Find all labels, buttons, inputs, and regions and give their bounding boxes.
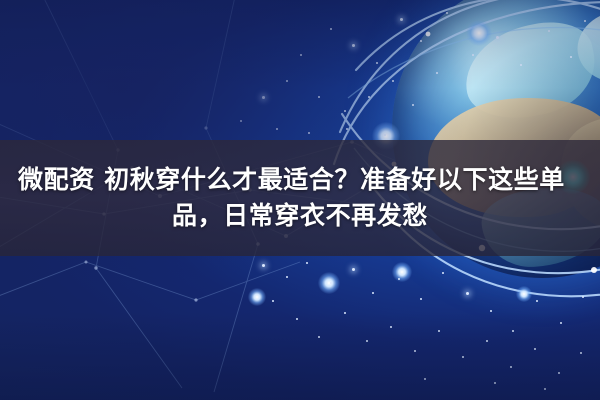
- headline-line-2: 品，日常穿衣不再发愁: [172, 199, 428, 233]
- headline-line-1: 微配资 初秋穿什么才最适合？准备好以下这些单: [14, 163, 586, 197]
- page-title: 微配资 初秋穿什么才最适合？准备好以下这些单 品，日常穿衣不再发愁: [0, 140, 600, 256]
- banner-image: 微配资 初秋穿什么才最适合？准备好以下这些单 品，日常穿衣不再发愁: [0, 0, 600, 400]
